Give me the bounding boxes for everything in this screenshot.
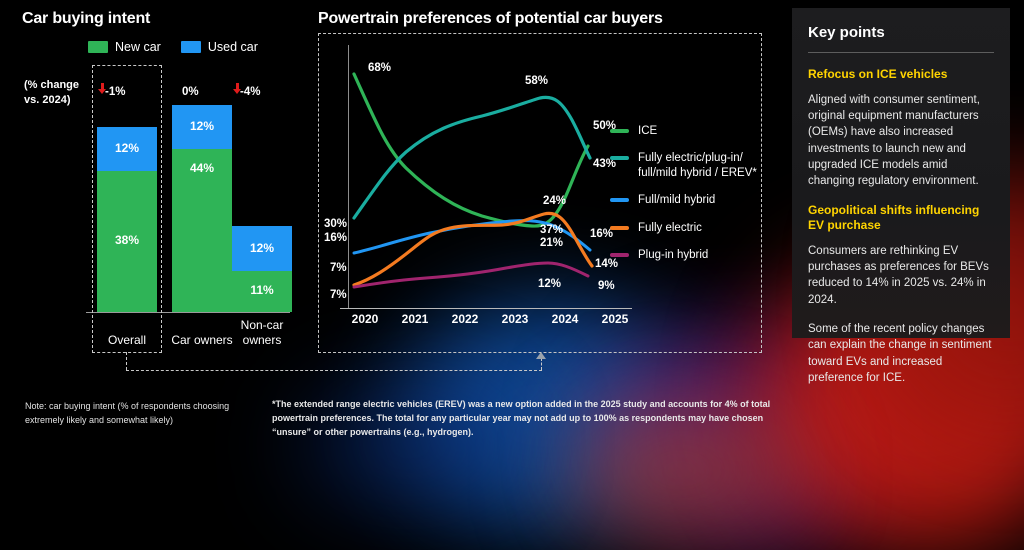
legend-label-fully-electric: Fully electric — [638, 221, 702, 235]
value-label-ev-2024: 58% — [525, 75, 548, 87]
line-chart-title: Powertrain preferences of potential car … — [318, 10, 663, 28]
bar-value-new-car: 11% — [232, 283, 292, 297]
x-tick-2020: 2020 — [340, 312, 390, 326]
legend-label-ice: ICE — [638, 124, 657, 138]
bar-segment-new-car[interactable]: 44% — [172, 149, 232, 312]
value-label-ice-2024: 37% — [540, 224, 563, 236]
bar-segment-used-car[interactable]: 12% — [172, 105, 232, 149]
change-value-car-owners: 0% — [182, 86, 199, 98]
value-label-plugin-2024: 12% — [538, 278, 561, 290]
bar-category-non-car-owners: Non-car owners — [220, 318, 304, 348]
legend-swatch-full-mild-hybrid — [610, 198, 629, 202]
legend-item-ev-combined: Fully electric/plug-in/ full/mild hybrid… — [610, 151, 780, 180]
legend-swatch-fully-electric — [610, 226, 629, 230]
powertrain-preferences-panel: Powertrain preferences of potential car … — [310, 0, 780, 390]
bar-value-new-car: 44% — [172, 161, 232, 175]
key-points-title: Key points — [808, 24, 994, 41]
key-points-panel: Key points Refocus on ICE vehicles Align… — [792, 8, 1010, 338]
change-indicator-non-car-owners: -4% — [237, 86, 260, 98]
key-points-divider — [808, 52, 994, 53]
key-point-body-3: Some of the recent policy changes can ex… — [808, 321, 994, 386]
line-chart-plot: 68% 37% 50% 30% 58% 43% 16% 21% 16% 7% 2… — [340, 40, 640, 308]
x-tick-2022: 2022 — [440, 312, 490, 326]
legend-item-plug-in-hybrid: Plug-in hybrid — [610, 248, 780, 262]
legend-item-fully-electric: Fully electric — [610, 221, 780, 235]
footnote-left: Note: car buying intent (% of respondent… — [25, 400, 250, 427]
bar-segment-used-car[interactable]: 12% — [232, 226, 292, 271]
bar-group-car-owners[interactable]: 12% 44% — [172, 105, 232, 312]
value-label-ev-2020: 30% — [324, 218, 347, 230]
bar-value-used-car: 12% — [232, 241, 292, 255]
x-tick-2021: 2021 — [390, 312, 440, 326]
legend-label-ev-combined: Fully electric/plug-in/ full/mild hybrid… — [638, 151, 757, 180]
value-label-electric-2024: 24% — [543, 195, 566, 207]
footnote-right: *The extended range electric vehicles (E… — [272, 398, 772, 440]
x-tick-2025: 2025 — [590, 312, 640, 326]
line-chart-legend: ICE Fully electric/plug-in/ full/mild hy… — [610, 124, 780, 275]
line-chart-x-axis — [340, 308, 632, 309]
value-label-hybrid-2020: 16% — [324, 232, 347, 244]
legend-swatch-ice — [610, 129, 629, 133]
value-label-plugin-2025: 9% — [598, 280, 615, 292]
value-label-ice-2020: 68% — [368, 62, 391, 74]
car-buying-intent-panel: Car buying intent New car Used car (% ch… — [0, 0, 300, 380]
value-label-plugin-2020: 7% — [330, 289, 347, 301]
line-chart-x-tick-labels: 2020 2021 2022 2023 2024 2025 — [340, 312, 640, 326]
legend-label-plug-in-hybrid: Plug-in hybrid — [638, 248, 708, 262]
bar-group-non-car-owners[interactable]: 12% 11% — [232, 226, 292, 312]
x-tick-2024: 2024 — [540, 312, 590, 326]
value-label-hybrid-2024: 21% — [540, 237, 563, 249]
key-point-heading-2: Geopolitical shifts influencing EV purch… — [808, 203, 994, 234]
change-indicator-car-owners: 0% — [182, 86, 199, 98]
bar-value-used-car: 12% — [172, 119, 232, 133]
legend-item-full-mild-hybrid: Full/mild hybrid — [610, 193, 780, 207]
key-point-heading-1: Refocus on ICE vehicles — [808, 67, 994, 83]
callout-connector-vertical — [126, 352, 127, 370]
value-label-electric-2020: 7% — [330, 262, 347, 274]
legend-swatch-plug-in-hybrid — [610, 253, 629, 257]
highlight-box-overall — [92, 65, 162, 353]
key-point-body-1: Aligned with consumer sentiment, origina… — [808, 92, 994, 190]
legend-swatch-ev-combined — [610, 156, 629, 160]
legend-label-full-mild-hybrid: Full/mild hybrid — [638, 193, 715, 207]
x-tick-2023: 2023 — [490, 312, 540, 326]
change-value-non-car-owners: -4% — [240, 86, 260, 98]
key-point-body-2: Consumers are rethinking EV purchases as… — [808, 243, 994, 308]
legend-item-ice: ICE — [610, 124, 780, 138]
bar-segment-new-car[interactable]: 11% — [232, 271, 292, 312]
